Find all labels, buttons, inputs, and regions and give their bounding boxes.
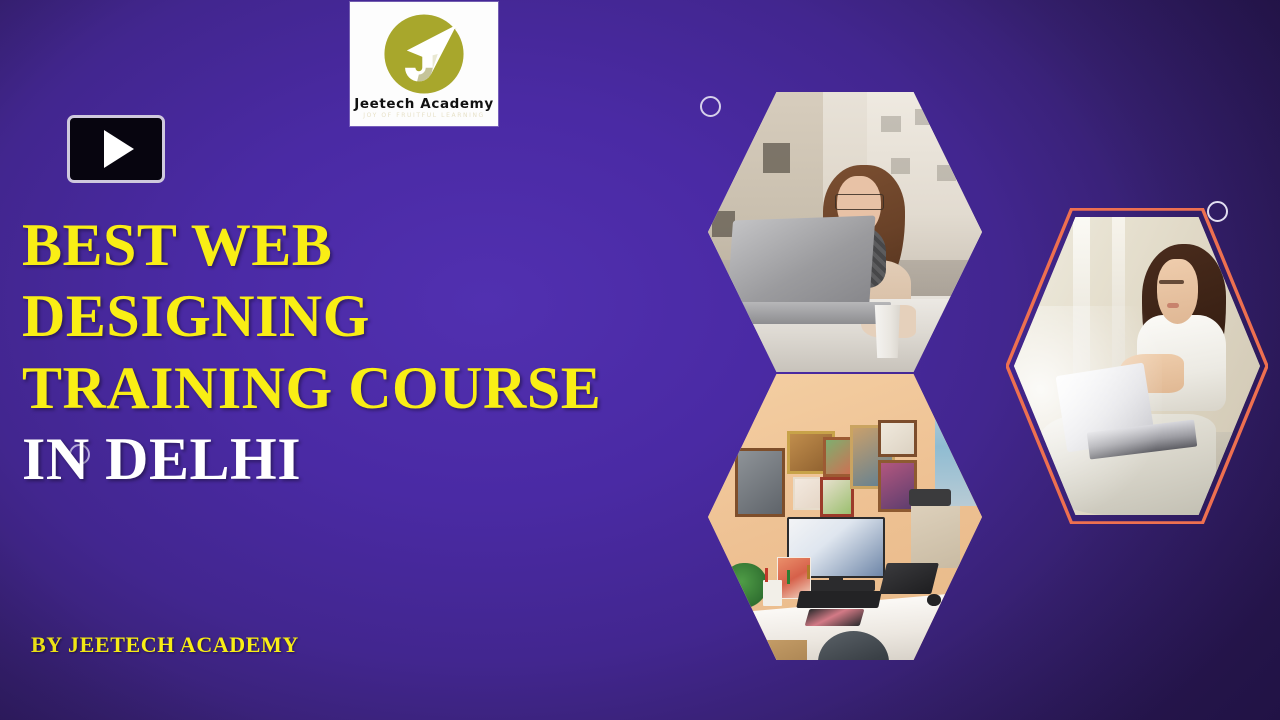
- presentation-slide: Jeetech Academy JOY OF FRUITFUL LEARNING…: [0, 0, 1280, 720]
- photo-layer-laptop-lid: [726, 216, 875, 313]
- jeetech-logo-icon: [381, 11, 467, 97]
- photo-layer-storage-box: [746, 640, 806, 660]
- photo-layer-drawing-tablet: [879, 563, 939, 594]
- photo-layer-shelf: [911, 506, 960, 569]
- photo-layer-open-book: [804, 609, 864, 626]
- photo-layer-picture-frame: [878, 420, 917, 457]
- byline: BY JEETECH ACADEMY: [31, 632, 299, 658]
- photo-layer-lips: [1167, 303, 1179, 308]
- photo-layer-pencil-cup: [763, 580, 782, 606]
- photo-layer-keyboard: [797, 591, 883, 608]
- photo-layer-coffee-cup: [872, 305, 902, 358]
- headline-line-3: TRAINING COURSE: [22, 353, 762, 424]
- logo: Jeetech Academy JOY OF FRUITFUL LEARNING: [350, 2, 498, 126]
- photo-layer-mouse: [927, 594, 941, 605]
- photo-layer-picture-frame: [820, 477, 853, 517]
- decorative-ring-icon: [1207, 201, 1228, 222]
- headline-line-1: BEST WEB: [22, 210, 762, 281]
- photo-woman-laptop-window: [1014, 217, 1260, 515]
- play-icon: [104, 130, 134, 168]
- photo-layer-window: [935, 374, 982, 506]
- photo-layer-eyebrow: [1159, 280, 1184, 284]
- photo-layer-plant: [724, 563, 768, 609]
- photo-layer-picture-frame: [793, 477, 822, 510]
- decorative-ring-icon: [700, 96, 721, 117]
- play-button[interactable]: [67, 115, 165, 183]
- logo-tagline: JOY OF FRUITFUL LEARNING: [350, 112, 498, 119]
- headline-line-2: DESIGNING: [22, 281, 762, 352]
- headline-line-4: IN DELHI: [22, 424, 762, 495]
- page-title: BEST WEB DESIGNING TRAINING COURSE IN DE…: [22, 210, 762, 496]
- logo-wordmark: Jeetech Academy: [350, 96, 498, 112]
- photo-layer-picture-frame: [735, 448, 785, 517]
- photo-layer-window-light: [1014, 306, 1162, 515]
- photo-layer-glasses: [835, 194, 884, 210]
